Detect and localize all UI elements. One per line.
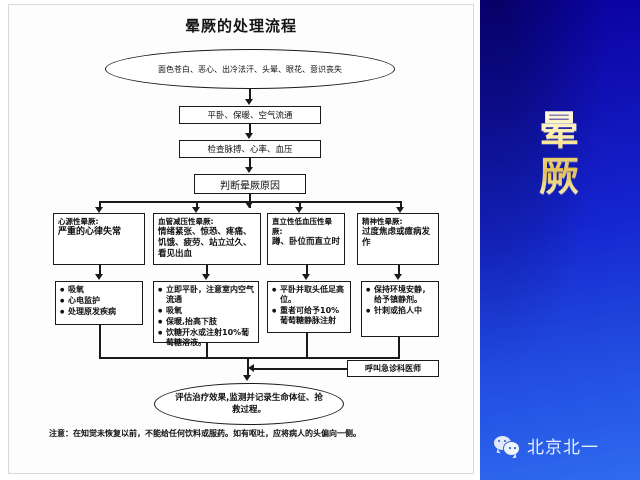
flowchart-page: 晕厥的处理流程 面色苍白、恶心、出冷法汗、头晕、眼花、意识丧失 平卧、保暖、空气… [8,4,474,474]
call-doctor-text: 呼叫急诊科医师 [365,363,421,374]
merge-drop-2 [206,343,208,358]
treatment-1-item-1: 吸氧 [60,285,138,295]
outcome-text: 评估治疗效果,监测并记录生命体征、抢救过程。 [175,392,323,416]
step-2-box: 检查脉搏、心率、血压 [179,140,321,158]
treatment-2-list: 立即平卧，注意室内空气流通 吸氧 保暖,抬高下肢 饮糖开水或注射10%葡萄糖溶液… [158,285,254,348]
treatment-2-item-1: 立即平卧，注意室内空气流通 [158,285,254,305]
treatment-4-list: 保持环境安静，给予镇静剂。 针刺或掐人中 [366,285,434,316]
treatment-4-item-2: 针刺或掐人中 [366,306,434,316]
treatment-2-item-2: 吸氧 [158,306,254,316]
wechat-account-name: 北京北一 [527,433,599,458]
outcome-ellipse: 评估治疗效果,监测并记录生命体征、抢救过程。 [154,383,344,425]
arrow-4 [245,202,253,208]
arrow-2 [245,133,253,139]
treatment-box-4: 保持环境安静，给予镇静剂。 针刺或掐人中 [361,281,439,337]
treatment-box-1: 吸氧 心电监护 处理原发疾病 [55,281,143,325]
treatment-2-item-3: 保暖,抬高下肢 [158,317,254,327]
footer-note: 注意：在知觉未恢复以前，不能给任何饮料或服药。如有呕吐，应将病人的头偏向一侧。 [49,427,457,439]
cause-to-treat-arrow-2 [202,274,210,280]
cause-4-body: 过度焦虑或癔病发作 [362,227,434,249]
treatment-3-item-2: 重者可给予10%葡萄糖静脉注射 [272,306,346,326]
cause-to-treat-arrow-3 [302,274,310,280]
wechat-badge[interactable]: 北京北一 [494,433,599,458]
wechat-icon [494,436,520,456]
cause-3-heading: 直立性低血压性晕厥: [272,217,340,237]
branch-distribution-bar [99,201,401,203]
arrow-1 [245,99,253,105]
treatment-3-list: 平卧并取头低足高位。 重者可给予10%葡萄糖静脉注射 [272,285,346,326]
side-title-char-1: 晕 [480,108,640,154]
cause-1-heading: 心源性晕厥: [58,217,140,227]
step-1-box: 平卧、保暖、空气流通 [179,106,321,124]
cause-2-heading: 血管减压性晕厥: [158,217,256,227]
call-doctor-box: 呼叫急诊科医师 [347,360,439,377]
cause-box-2: 血管减压性晕厥: 情绪紧张、惊恐、疼痛、饥饿、疲劳、站立过久、看见出血 [153,213,261,265]
treatment-1-item-3: 处理原发疾病 [60,307,138,317]
symptom-ellipse: 面色苍白、恶心、出冷法汗、头晕、眼花、意识丧失 [105,49,395,89]
page-title: 晕厥的处理流程 [9,15,473,36]
treatment-4-item-1: 保持环境安静，给予镇静剂。 [366,285,434,305]
blue-side-panel: 晕 厥 北京北一 [480,0,640,480]
outcome-arrow [243,375,251,381]
merge-bar [99,357,400,359]
cause-box-3: 直立性低血压性晕厥: 蹲、卧位而直立时 [267,213,345,265]
side-panel-title: 晕 厥 [480,108,640,200]
step-1-text: 平卧、保暖、空气流通 [207,109,292,121]
treatment-1-item-2: 心电监护 [60,296,138,306]
merge-drop-3 [306,333,308,358]
cause-box-1: 心源性晕厥: 严重的心律失常 [53,213,145,265]
cause-3-body: 蹲、卧位而直立时 [272,237,340,248]
treatment-3-item-1: 平卧并取头低足高位。 [272,285,346,305]
treatment-box-3: 平卧并取头低足高位。 重者可给予10%葡萄糖静脉注射 [267,281,351,333]
treatment-1-list: 吸氧 心电监护 处理原发疾病 [60,285,138,317]
treatment-box-2: 立即平卧，注意室内空气流通 吸氧 保暖,抬高下肢 饮糖开水或注射10%葡萄糖溶液… [153,281,259,343]
call-doctor-arrow [248,364,254,372]
merge-drop-1 [99,325,101,358]
cause-to-treat-arrow-4 [394,274,402,280]
merge-drop-4 [398,337,400,358]
step-3-text: 判断晕厥原因 [220,177,280,192]
side-title-char-2: 厥 [480,154,640,200]
step-3-box: 判断晕厥原因 [194,174,306,194]
arrow-3 [245,167,253,173]
cause-to-treat-arrow-1 [95,274,103,280]
call-doctor-line [253,368,347,370]
cause-1-body: 严重的心律失常 [58,227,140,238]
step-2-text: 检查脉搏、心率、血压 [207,143,292,155]
slide-canvas: 晕 厥 北京北一 晕厥的处理流程 面色苍白、恶心、出冷法汗、头晕、眼花、意识丧失… [0,0,640,480]
symptom-text: 面色苍白、恶心、出冷法汗、头晕、眼花、意识丧失 [158,64,342,75]
cause-box-4: 精神性晕厥: 过度焦虑或癔病发作 [357,213,439,265]
cause-4-heading: 精神性晕厥: [362,217,434,227]
cause-2-body: 情绪紧张、惊恐、疼痛、饥饿、疲劳、站立过久、看见出血 [158,227,256,260]
